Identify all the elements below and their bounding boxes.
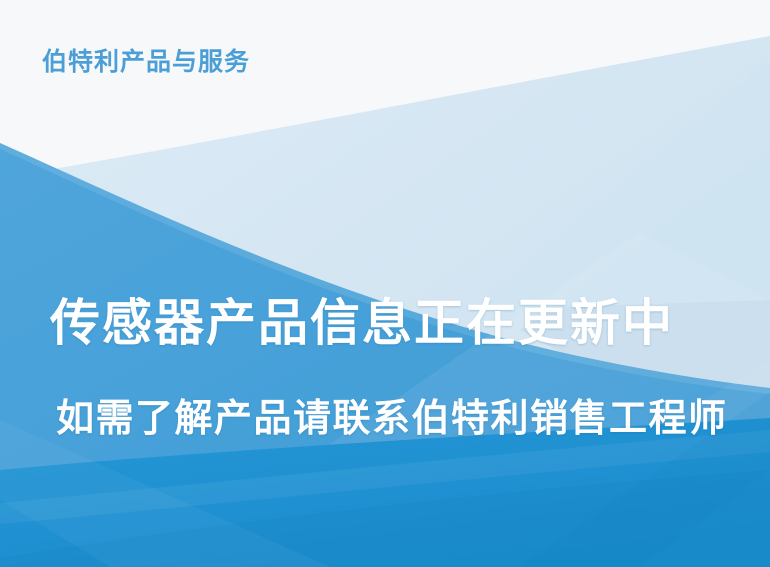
headline-text: 传感器产品信息正在更新中 — [50, 296, 674, 351]
subheadline-text: 如需了解产品请联系伯特利销售工程师 — [56, 399, 728, 441]
product-service-banner: 伯特利产品与服务 传感器产品信息正在更新中 如需了解产品请联系伯特利销售工程师 — [0, 0, 770, 567]
banner-text-layer: 伯特利产品与服务 传感器产品信息正在更新中 如需了解产品请联系伯特利销售工程师 — [0, 0, 770, 567]
page-title: 伯特利产品与服务 — [42, 48, 250, 77]
